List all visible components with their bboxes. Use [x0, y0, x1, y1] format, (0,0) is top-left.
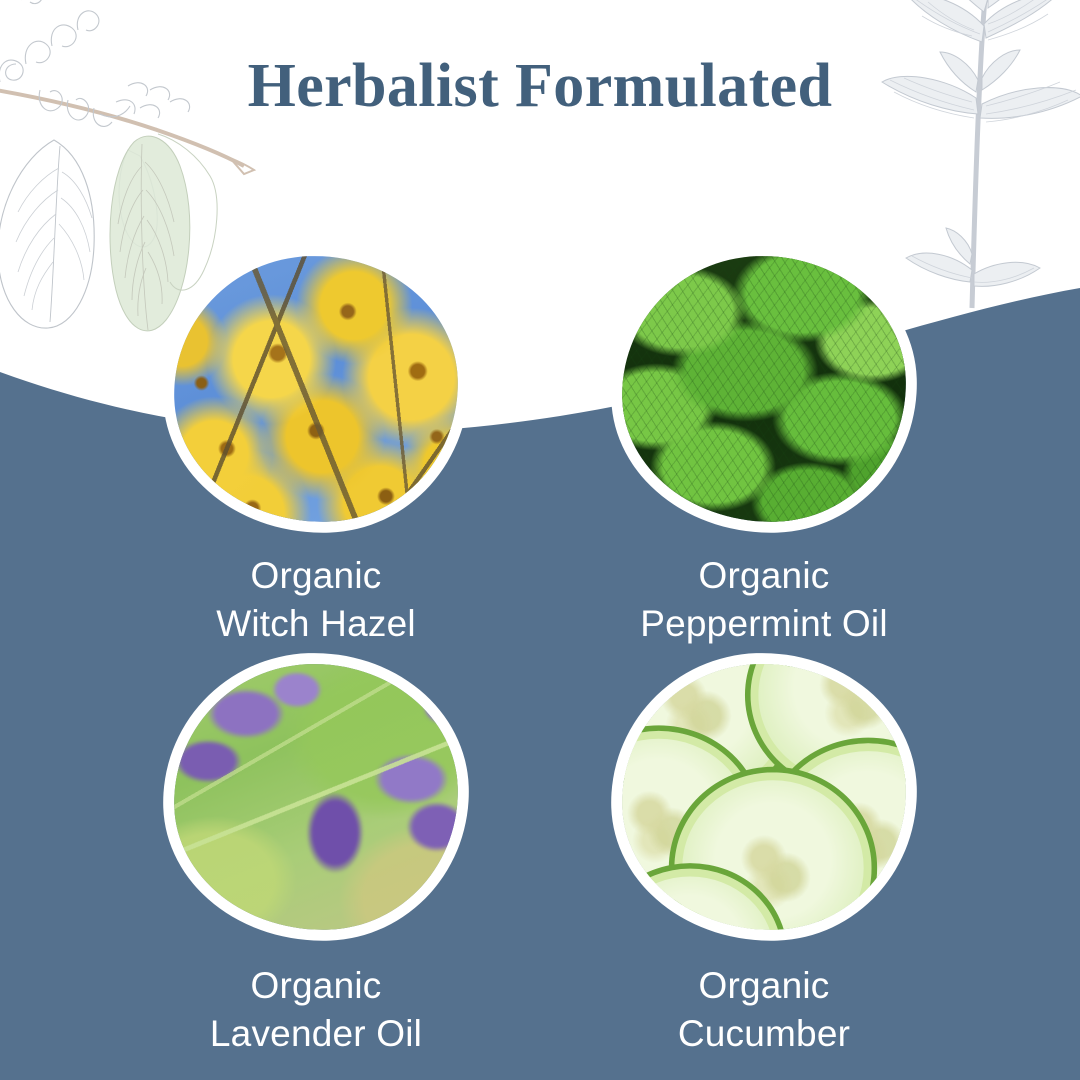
ingredient-card-lavender-oil[interactable]: Organic Lavender Oil — [120, 658, 512, 1058]
ingredient-label-lavender-oil: Organic Lavender Oil — [210, 962, 422, 1058]
cucumber-slices-photo — [617, 659, 910, 935]
ingredient-card-witch-hazel[interactable]: Organic Witch Hazel — [120, 250, 512, 648]
ingredients-grid: Organic Witch Hazel Organic Peppermint O… — [0, 250, 1080, 1058]
ingredient-label-witch-hazel: Organic Witch Hazel — [216, 552, 416, 648]
page-title: Herbalist Formulated — [0, 52, 1080, 120]
witch-hazel-flowers-photo — [169, 251, 462, 527]
peppermint-blob-mask — [617, 251, 910, 527]
ingredient-label-cucumber: Organic Cucumber — [678, 962, 850, 1058]
peppermint-image-frame — [618, 250, 910, 528]
ingredient-card-cucumber[interactable]: Organic Cucumber — [568, 658, 960, 1058]
lavender-blob-mask — [169, 659, 462, 935]
witch-hazel-blob-mask — [169, 251, 462, 527]
lavender-image-frame — [170, 658, 462, 936]
cucumber-image-frame — [618, 658, 910, 936]
peppermint-leaves-photo — [617, 251, 910, 527]
ingredients-row-2: Organic Lavender Oil — [0, 658, 1080, 1058]
lavender-flowers-photo — [169, 659, 462, 935]
ingredients-row-1: Organic Witch Hazel Organic Peppermint O… — [0, 250, 1080, 648]
ingredient-label-peppermint-oil: Organic Peppermint Oil — [640, 552, 888, 648]
witch-hazel-image-frame — [170, 250, 462, 528]
herbalist-formulated-graphic: Herbalist Formulated Organic Witch Hazel — [0, 0, 1080, 1080]
cucumber-blob-mask — [617, 659, 910, 935]
ingredient-card-peppermint-oil[interactable]: Organic Peppermint Oil — [568, 250, 960, 648]
